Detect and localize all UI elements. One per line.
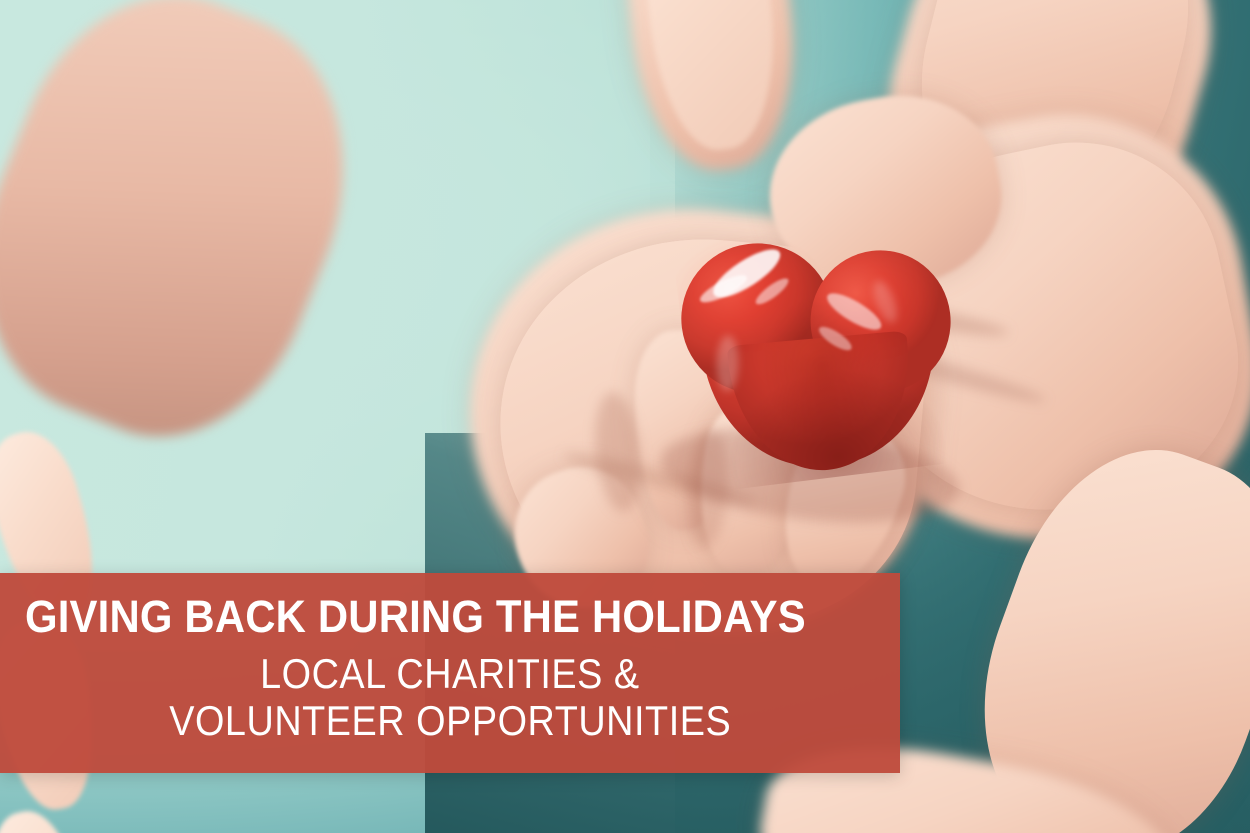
banner-subline-2: VOLUNTEER OPPORTUNITIES (0, 700, 900, 742)
banner-headline: GIVING BACK DURING THE HOLIDAYS (25, 594, 806, 639)
promo-poster: GIVING BACK DURING THE HOLIDAYS LOCAL CH… (0, 0, 1250, 833)
red-ceramic-heart (672, 213, 968, 494)
banner-subline-1: LOCAL CHARITIES & (0, 653, 900, 695)
banner-subline-1-text: LOCAL CHARITIES & (260, 653, 640, 695)
banner-subline-2-text: VOLUNTEER OPPORTUNITIES (169, 700, 731, 742)
heart-shading (672, 213, 968, 494)
